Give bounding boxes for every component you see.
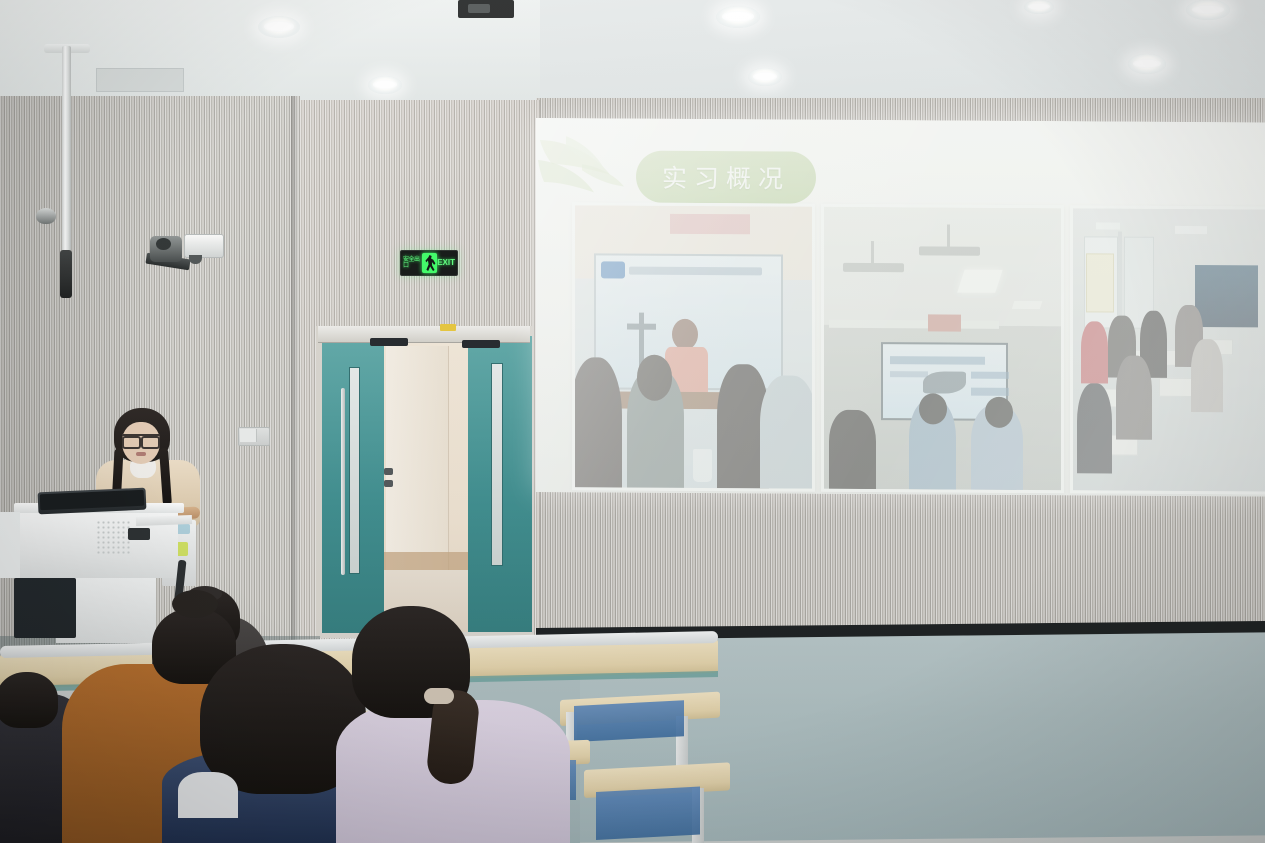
hanging-microphone-icon — [60, 250, 72, 298]
slide-photo-1 — [572, 202, 815, 491]
light-switch-plate[interactable] — [238, 427, 270, 446]
corridor-door-lock-icon[interactable] — [384, 480, 393, 487]
ceiling-vent-left — [96, 68, 184, 92]
lecture-hall-scene: 安全出口 EXIT 实习概况 — [0, 0, 1265, 843]
bullet-camera-icon — [184, 234, 224, 258]
presenter-mouth — [136, 452, 146, 456]
ceiling-downlight-3 — [716, 6, 760, 28]
slide-photo-2 — [821, 204, 1064, 493]
lectern-control-panel[interactable] — [128, 528, 150, 540]
slide-photo-row — [572, 202, 1265, 494]
ceiling-projector-box — [458, 0, 514, 18]
lectern-left-face — [0, 512, 20, 578]
slide-photo-3 — [1070, 205, 1265, 494]
slide-content: 实习概况 — [536, 118, 1265, 496]
door-left-vision-panel — [349, 367, 360, 573]
dome-camera-icon — [36, 208, 56, 224]
running-man-icon — [422, 253, 437, 273]
slide-title-badge: 实习概况 — [636, 151, 816, 204]
exit-sign-chinese-label: 安全出口 — [403, 257, 422, 269]
ceiling-downlight-6 — [1186, 0, 1230, 20]
ceiling-downlight-7 — [1024, 0, 1054, 14]
door-right-leaf[interactable] — [468, 336, 532, 632]
door-closer-left-icon — [370, 338, 408, 346]
corridor-baseboard — [384, 552, 468, 570]
corridor-door-handle-icon[interactable] — [384, 468, 393, 475]
audience-4-head — [0, 672, 58, 728]
door-right-vision-panel — [491, 363, 503, 566]
door-closer-right-icon — [462, 340, 500, 348]
door-left-handle-icon[interactable] — [341, 388, 345, 575]
audience-2-hood-lining — [178, 772, 238, 818]
audience-3-hair-tie — [424, 688, 454, 704]
ceiling-downlight-4 — [748, 68, 782, 86]
ceiling-downlight-1 — [258, 16, 300, 38]
ptz-camera-icon — [150, 236, 182, 262]
seat-right-2 — [596, 787, 700, 840]
exit-sign: 安全出口 EXIT — [400, 250, 458, 276]
seat-right-1 — [574, 700, 684, 742]
ceiling-downlight-5 — [1128, 54, 1166, 74]
lectern-speaker-grille — [96, 520, 132, 556]
ceiling-downlight-2 — [368, 76, 402, 94]
projection-screen[interactable]: 实习概况 — [536, 118, 1265, 496]
audience-1-hair-bun — [172, 590, 218, 618]
wall-corner — [291, 96, 299, 656]
exit-sign-english-label: EXIT — [437, 259, 455, 267]
lectern-front-panel — [14, 578, 76, 638]
glasses-icon — [122, 434, 160, 445]
door-warning-tag — [440, 324, 456, 331]
door-left-leaf[interactable] — [322, 341, 384, 633]
